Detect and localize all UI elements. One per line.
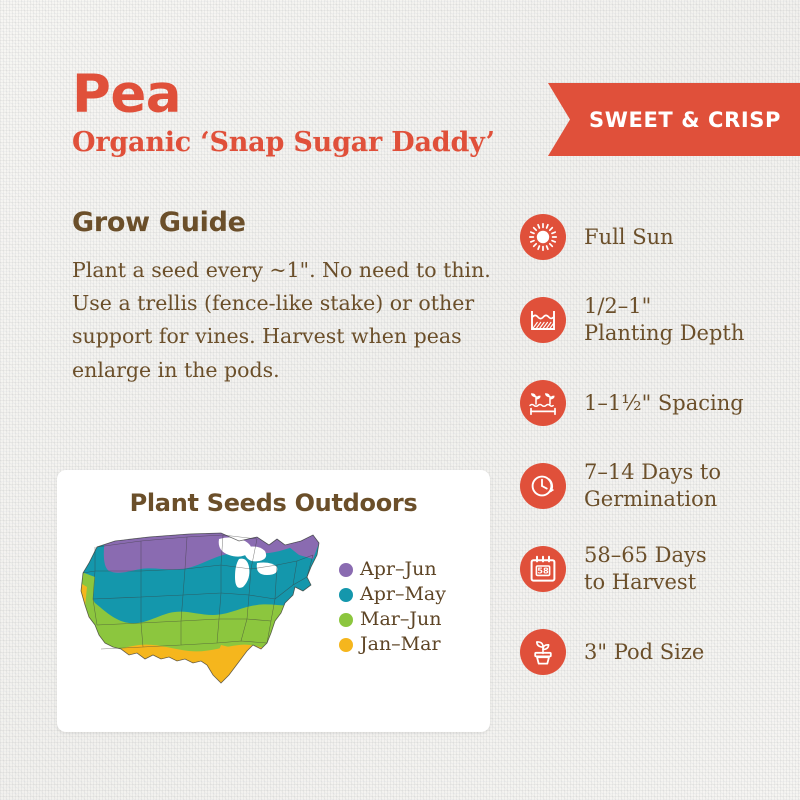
fact-row: 58 58–65 Days to Harvest [520, 540, 790, 598]
fact-row: 1/2–1" Planting Depth [520, 291, 790, 349]
flavor-banner-label: SWEET & CRISP [548, 83, 800, 156]
planting-depth-icon [520, 297, 566, 343]
fact-label: 1–1½" Spacing [584, 390, 744, 417]
variety-subtitle: Organic ‘Snap Sugar Daddy’ [72, 127, 495, 158]
grow-guide-body: Plant a seed every ~1". No need to thin.… [72, 254, 492, 387]
map-zone-regions [71, 525, 333, 695]
calendar-icon: 58 [520, 546, 566, 592]
flavor-banner: SWEET & CRISP [548, 83, 800, 156]
fact-row: Full Sun [520, 208, 790, 266]
plant-seeds-outdoors-card: Plant Seeds Outdoors [57, 470, 490, 732]
seed-packet-grow-guide: Pea Organic ‘Snap Sugar Daddy’ SWEET & C… [0, 0, 800, 800]
legend-item: Apr–May [339, 585, 490, 604]
legend-label: Jan–Mar [360, 635, 441, 654]
legend-label: Mar–Jun [360, 610, 441, 629]
legend-color-swatch-mar-jun [339, 613, 353, 627]
legend-color-swatch-apr-may [339, 588, 353, 602]
fact-row: 7–14 Days to Germination [520, 457, 790, 515]
calendar-badge-number: 58 [537, 566, 549, 576]
header-title-block: Pea Organic ‘Snap Sugar Daddy’ [72, 68, 495, 158]
grow-guide-heading: Grow Guide [72, 207, 492, 238]
fact-label: 1/2–1" Planting Depth [584, 293, 744, 347]
sun-icon [520, 214, 566, 260]
legend-color-swatch-jan-mar [339, 638, 353, 652]
legend-color-swatch-apr-jun [339, 563, 353, 577]
legend-label: Apr–Jun [360, 560, 437, 579]
pot-plant-icon [520, 629, 566, 675]
fact-label: Full Sun [584, 224, 674, 251]
legend-item: Mar–Jun [339, 610, 490, 629]
fact-row: 3" Pod Size [520, 623, 790, 681]
clock-icon [520, 463, 566, 509]
map-card-title: Plant Seeds Outdoors [57, 470, 490, 517]
fact-row: 1–1½" Spacing [520, 374, 790, 432]
legend-item: Apr–Jun [339, 560, 490, 579]
fact-label: 3" Pod Size [584, 639, 704, 666]
spacing-icon [520, 380, 566, 426]
fact-label: 58–65 Days to Harvest [584, 542, 707, 596]
legend-label: Apr–May [360, 585, 446, 604]
usa-planting-zone-map [71, 525, 333, 695]
grow-guide-section: Grow Guide Plant a seed every ~1". No ne… [72, 207, 492, 387]
growing-facts-list: Full Sun 1/2–1" Planting [520, 208, 790, 681]
map-legend: Apr–Jun Apr–May Mar–Jun Jan–Mar [333, 560, 490, 660]
map-card-body: Apr–Jun Apr–May Mar–Jun Jan–Mar [57, 517, 490, 695]
fact-label: 7–14 Days to Germination [584, 459, 721, 513]
crop-name-heading: Pea [72, 68, 495, 121]
legend-item: Jan–Mar [339, 635, 490, 654]
